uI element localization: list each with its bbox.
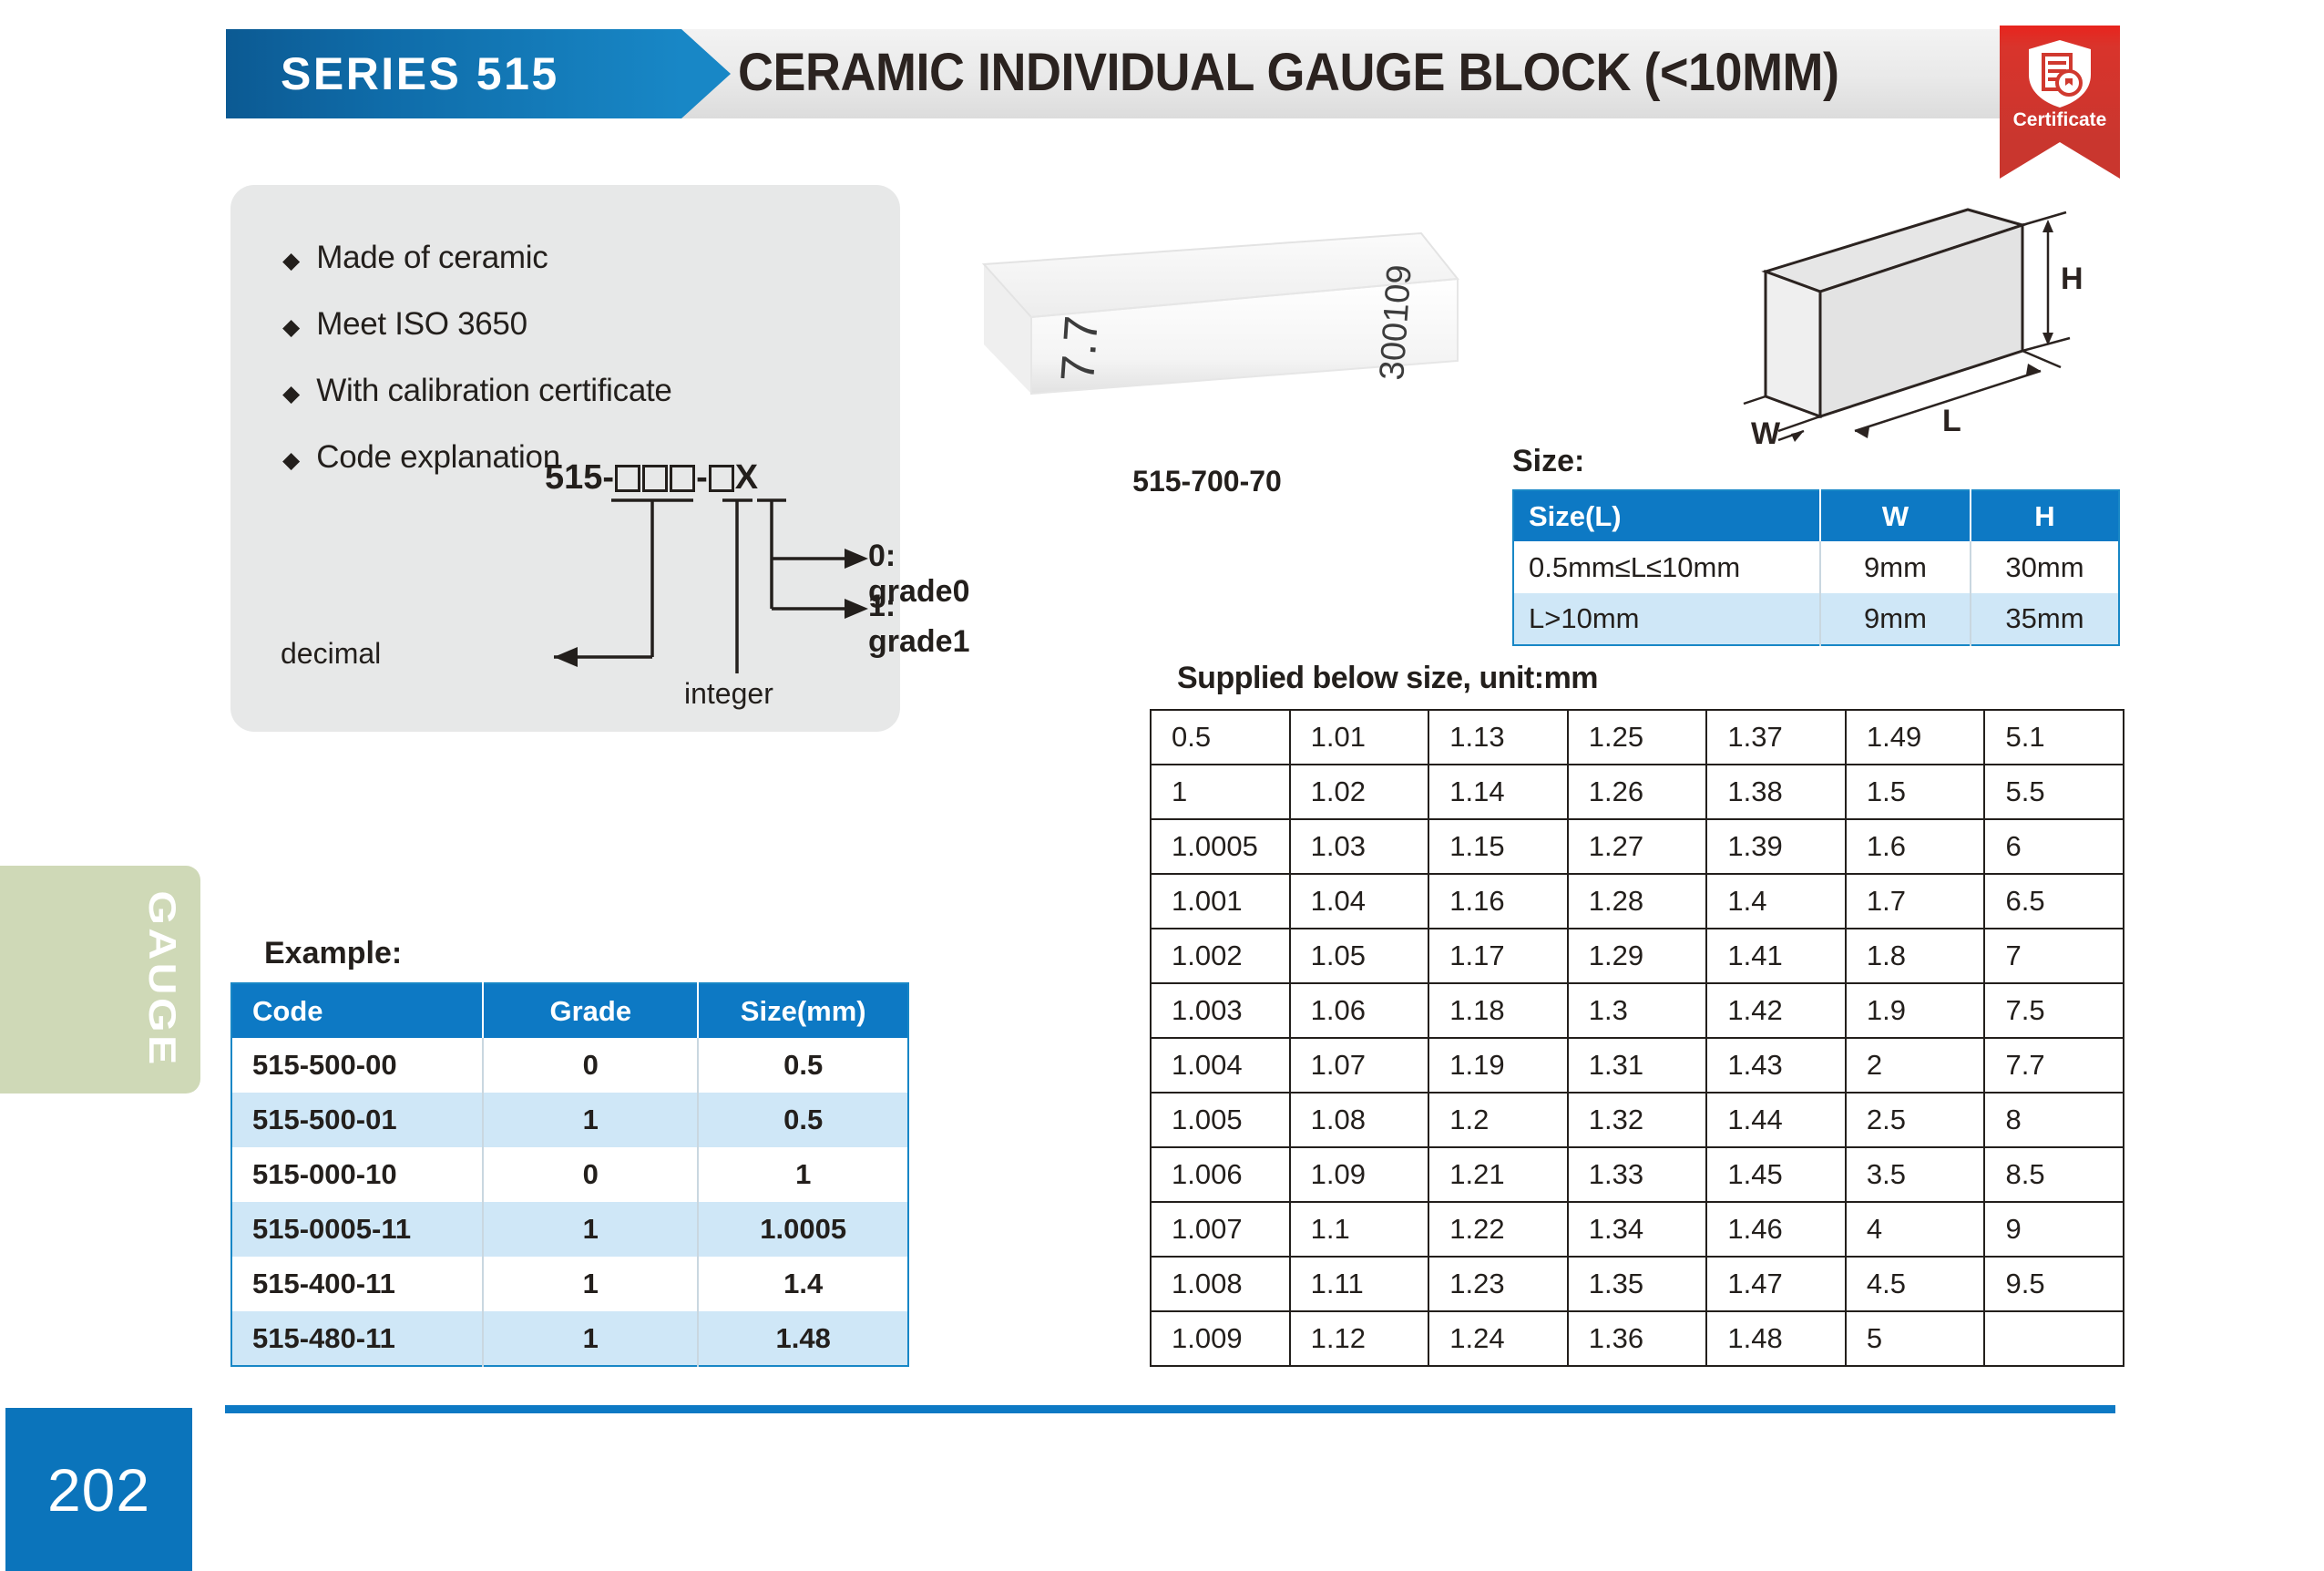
- supplied-size-cell: 6: [1984, 819, 2124, 874]
- supplied-size-cell: 1.17: [1428, 929, 1568, 983]
- supplied-size-cell: 1.11: [1290, 1257, 1429, 1311]
- example-cell: 1.4: [698, 1257, 908, 1311]
- example-cell: 1: [483, 1093, 698, 1147]
- example-cell: 1.0005: [698, 1202, 908, 1257]
- table-row: 1.0051.081.21.321.442.58: [1151, 1093, 2124, 1147]
- example-cell: 1: [483, 1311, 698, 1366]
- supplied-size-cell: 3.5: [1846, 1147, 1985, 1202]
- catalog-page: SERIES 515 CERAMIC INDIVIDUAL GAUGE BLOC…: [0, 0, 2324, 1571]
- size-cell: 9mm: [1820, 593, 1971, 645]
- supplied-size-cell: 1.5: [1846, 765, 1985, 819]
- supplied-size-cell: 7: [1984, 929, 2124, 983]
- feature-label: With calibration certificate: [316, 373, 671, 409]
- supplied-size-cell: 1.46: [1706, 1202, 1846, 1257]
- supplied-size-cell: 2: [1846, 1038, 1985, 1093]
- size-cell: L>10mm: [1513, 593, 1820, 645]
- page-number: 202: [47, 1455, 150, 1525]
- supplied-size-cell: 1.48: [1706, 1311, 1846, 1366]
- supplied-size-cell: 1.49: [1846, 710, 1985, 765]
- supplied-size-cell: 1.37: [1706, 710, 1846, 765]
- supplied-size-cell: 1.29: [1568, 929, 1707, 983]
- table-row: 1.0081.111.231.351.474.59.5: [1151, 1257, 2124, 1311]
- supplied-size-cell: 9: [1984, 1202, 2124, 1257]
- supplied-size-cell: 1.001: [1151, 874, 1290, 929]
- side-tab-label: GAUGE: [140, 891, 184, 1068]
- supplied-size-cell: 1.43: [1706, 1038, 1846, 1093]
- supplied-size-cell: 1.22: [1428, 1202, 1568, 1257]
- example-cell: 515-500-00: [231, 1038, 483, 1093]
- supplied-size-cell: [1984, 1311, 2124, 1366]
- diamond-bullet-icon: ◆: [282, 383, 300, 406]
- supplied-size-cell: 1.19: [1428, 1038, 1568, 1093]
- supplied-size-cell: 1.18: [1428, 983, 1568, 1038]
- table-row: L>10mm 9mm 35mm: [1513, 593, 2119, 645]
- supplied-size-cell: 1.008: [1151, 1257, 1290, 1311]
- supplied-size-cell: 1.23: [1428, 1257, 1568, 1311]
- supplied-size-cell: 9.5: [1984, 1257, 2124, 1311]
- supplied-size-cell: 1.38: [1706, 765, 1846, 819]
- supplied-size-cell: 4.5: [1846, 1257, 1985, 1311]
- supplied-size-cell: 1.03: [1290, 819, 1429, 874]
- decimal-label: decimal: [281, 637, 381, 671]
- certificate-banner-point: [2000, 142, 2120, 179]
- supplied-size-cell: 1.14: [1428, 765, 1568, 819]
- size-cell: 35mm: [1971, 593, 2119, 645]
- product-caption: 515-700-70: [947, 465, 1467, 498]
- size-table-header-row: Size(L) W H: [1513, 490, 2119, 541]
- size-header-h: H: [1971, 490, 2119, 541]
- code-leader-lines: [230, 458, 900, 732]
- supplied-size-cell: 1.28: [1568, 874, 1707, 929]
- example-table: Code Grade Size(mm) 515-500-0000.5515-50…: [230, 982, 909, 1367]
- series-tag-arrow: [681, 29, 731, 118]
- example-cell: 1.48: [698, 1311, 908, 1366]
- example-section-heading: Example:: [264, 936, 402, 971]
- feature-item: ◆ With calibration certificate: [282, 373, 672, 409]
- supplied-size-cell: 8: [1984, 1093, 2124, 1147]
- supplied-size-cell: 2.5: [1846, 1093, 1985, 1147]
- table-row: 1.0071.11.221.341.4649: [1151, 1202, 2124, 1257]
- example-cell: 1: [483, 1202, 698, 1257]
- table-row: 0.5mm≤L≤10mm 9mm 30mm: [1513, 541, 2119, 593]
- dimension-drawing: H L W: [1740, 205, 2123, 451]
- supplied-size-cell: 1.4: [1706, 874, 1846, 929]
- supplied-size-cell: 1.0005: [1151, 819, 1290, 874]
- supplied-size-cell: 1.36: [1568, 1311, 1707, 1366]
- table-row: 515-500-0000.5: [231, 1038, 908, 1093]
- supplied-size-cell: 8.5: [1984, 1147, 2124, 1202]
- supplied-size-cell: 1.07: [1290, 1038, 1429, 1093]
- table-row: 1.00051.031.151.271.391.66: [1151, 819, 2124, 874]
- table-row: 515-500-0110.5: [231, 1093, 908, 1147]
- supplied-size-cell: 1.8: [1846, 929, 1985, 983]
- supplied-size-cell: 1.02: [1290, 765, 1429, 819]
- features-panel: ◆ Made of ceramic ◆ Meet ISO 3650 ◆ With…: [230, 185, 900, 732]
- supplied-size-cell: 1.24: [1428, 1311, 1568, 1366]
- example-cell: 0: [483, 1147, 698, 1202]
- supplied-size-cell: 1.9: [1846, 983, 1985, 1038]
- supplied-size-cell: 0.5: [1151, 710, 1290, 765]
- grade0-arrow-head: [845, 549, 868, 569]
- table-row: 1.0041.071.191.311.4327.7: [1151, 1038, 2124, 1093]
- example-cell: 515-400-11: [231, 1257, 483, 1311]
- supplied-size-cell: 1.05: [1290, 929, 1429, 983]
- diamond-bullet-icon: ◆: [282, 250, 300, 272]
- supplied-size-cell: 1.31: [1568, 1038, 1707, 1093]
- supplied-size-cell: 1.009: [1151, 1311, 1290, 1366]
- example-header-code: Code: [231, 983, 483, 1038]
- supplied-size-cell: 1.27: [1568, 819, 1707, 874]
- supplied-size-cell: 1.08: [1290, 1093, 1429, 1147]
- size-cell: 0.5mm≤L≤10mm: [1513, 541, 1820, 593]
- block-size-marking: 7.7: [1051, 314, 1109, 384]
- supplied-size-cell: 1.33: [1568, 1147, 1707, 1202]
- example-table-header-row: Code Grade Size(mm): [231, 983, 908, 1038]
- supplied-section-heading: Supplied below size, unit:mm: [1177, 661, 1598, 696]
- product-photo: 7.7 300109: [947, 208, 1467, 454]
- dimension-label-l: L: [1942, 404, 1961, 438]
- example-header-grade: Grade: [483, 983, 698, 1038]
- supplied-size-cell: 1.6: [1846, 819, 1985, 874]
- supplied-size-cell: 1.1: [1290, 1202, 1429, 1257]
- table-row: 515-480-1111.48: [231, 1311, 908, 1366]
- size-header-sizel: Size(L): [1513, 490, 1820, 541]
- supplied-size-cell: 1.006: [1151, 1147, 1290, 1202]
- feature-label: Made of ceramic: [316, 240, 548, 276]
- supplied-size-cell: 1.01: [1290, 710, 1429, 765]
- supplied-size-cell: 1.09: [1290, 1147, 1429, 1202]
- diamond-bullet-icon: ◆: [282, 316, 300, 339]
- supplied-size-cell: 1.04: [1290, 874, 1429, 929]
- supplied-size-cell: 5.1: [1984, 710, 2124, 765]
- table-row: 0.51.011.131.251.371.495.1: [1151, 710, 2124, 765]
- grade1-arrow-head: [845, 599, 868, 619]
- supplied-size-cell: 1: [1151, 765, 1290, 819]
- supplied-size-cell: 1.45: [1706, 1147, 1846, 1202]
- example-cell: 515-500-01: [231, 1093, 483, 1147]
- supplied-size-cell: 1.32: [1568, 1093, 1707, 1147]
- supplied-size-cell: 5: [1846, 1311, 1985, 1366]
- grade1-label: 1: grade1: [868, 589, 970, 660]
- supplied-sizes-table: 0.51.011.131.251.371.495.111.021.141.261…: [1150, 709, 2124, 1367]
- size-cell: 9mm: [1820, 541, 1971, 593]
- supplied-size-cell: 1.25: [1568, 710, 1707, 765]
- certificate-label: Certificate: [2000, 109, 2120, 131]
- example-cell: 1: [483, 1257, 698, 1311]
- supplied-size-cell: 1.13: [1428, 710, 1568, 765]
- supplied-size-cell: 1.21: [1428, 1147, 1568, 1202]
- supplied-size-cell: 1.44: [1706, 1093, 1846, 1147]
- series-label: SERIES 515: [226, 47, 559, 100]
- supplied-size-cell: 4: [1846, 1202, 1985, 1257]
- feature-label: Meet ISO 3650: [316, 306, 527, 343]
- supplied-size-cell: 1.15: [1428, 819, 1568, 874]
- supplied-size-cell: 1.39: [1706, 819, 1846, 874]
- size-header-w: W: [1820, 490, 1971, 541]
- series-tag: SERIES 515: [226, 29, 681, 118]
- supplied-size-cell: 7.5: [1984, 983, 2124, 1038]
- supplied-size-cell: 1.004: [1151, 1038, 1290, 1093]
- size-table: Size(L) W H 0.5mm≤L≤10mm 9mm 30mm L>10mm…: [1512, 489, 2120, 646]
- page-title: CERAMIC INDIVIDUAL GAUGE BLOCK (<10MM): [738, 42, 1839, 103]
- supplied-size-cell: 6.5: [1984, 874, 2124, 929]
- table-row: 11.021.141.261.381.55.5: [1151, 765, 2124, 819]
- example-cell: 515-000-10: [231, 1147, 483, 1202]
- code-explanation-diagram: 515- - X: [230, 458, 900, 732]
- supplied-size-cell: 1.42: [1706, 983, 1846, 1038]
- supplied-size-cell: 1.26: [1568, 765, 1707, 819]
- example-cell: 0.5: [698, 1038, 908, 1093]
- side-tab-text-wrap: GAUGE: [0, 866, 200, 1094]
- feature-item: ◆ Meet ISO 3650: [282, 306, 672, 343]
- table-row: 1.0031.061.181.31.421.97.5: [1151, 983, 2124, 1038]
- integer-label: integer: [684, 677, 773, 711]
- table-row: 1.0061.091.211.331.453.58.5: [1151, 1147, 2124, 1202]
- example-cell: 1: [698, 1147, 908, 1202]
- supplied-size-cell: 1.7: [1846, 874, 1985, 929]
- supplied-size-cell: 1.12: [1290, 1311, 1429, 1366]
- supplied-size-cell: 5.5: [1984, 765, 2124, 819]
- side-tab-gauge: GAUGE: [0, 866, 200, 1094]
- footer-rule: [225, 1405, 2115, 1413]
- supplied-size-cell: 1.16: [1428, 874, 1568, 929]
- supplied-size-cell: 1.34: [1568, 1202, 1707, 1257]
- table-row: 1.0091.121.241.361.485: [1151, 1311, 2124, 1366]
- example-cell: 515-0005-11: [231, 1202, 483, 1257]
- decimal-arrow-head: [554, 647, 578, 667]
- supplied-size-cell: 1.007: [1151, 1202, 1290, 1257]
- example-cell: 515-480-11: [231, 1311, 483, 1366]
- supplied-size-cell: 1.002: [1151, 929, 1290, 983]
- example-cell: 0: [483, 1038, 698, 1093]
- supplied-size-cell: 1.3: [1568, 983, 1707, 1038]
- supplied-size-cell: 1.41: [1706, 929, 1846, 983]
- certificate-shield-icon: [2025, 38, 2094, 109]
- page-number-box: 202: [5, 1408, 192, 1571]
- feature-item: ◆ Made of ceramic: [282, 240, 672, 276]
- supplied-size-cell: 1.06: [1290, 983, 1429, 1038]
- supplied-size-cell: 1.005: [1151, 1093, 1290, 1147]
- size-section-heading: Size:: [1512, 444, 1584, 479]
- table-row: 515-000-1001: [231, 1147, 908, 1202]
- table-row: 515-400-1111.4: [231, 1257, 908, 1311]
- dimension-label-h: H: [2061, 262, 2083, 296]
- supplied-size-cell: 1.2: [1428, 1093, 1568, 1147]
- supplied-size-cell: 1.35: [1568, 1257, 1707, 1311]
- dimension-label-w: W: [1751, 416, 1781, 451]
- supplied-size-cell: 1.47: [1706, 1257, 1846, 1311]
- size-cell: 30mm: [1971, 541, 2119, 593]
- certificate-badge: Certificate: [2000, 26, 2120, 171]
- example-cell: 0.5: [698, 1093, 908, 1147]
- block-serial-marking: 300109: [1373, 263, 1419, 381]
- table-row: 1.0011.041.161.281.41.76.5: [1151, 874, 2124, 929]
- supplied-size-cell: 1.003: [1151, 983, 1290, 1038]
- table-row: 1.0021.051.171.291.411.87: [1151, 929, 2124, 983]
- supplied-size-cell: 7.7: [1984, 1038, 2124, 1093]
- example-header-size: Size(mm): [698, 983, 908, 1038]
- table-row: 515-0005-1111.0005: [231, 1202, 908, 1257]
